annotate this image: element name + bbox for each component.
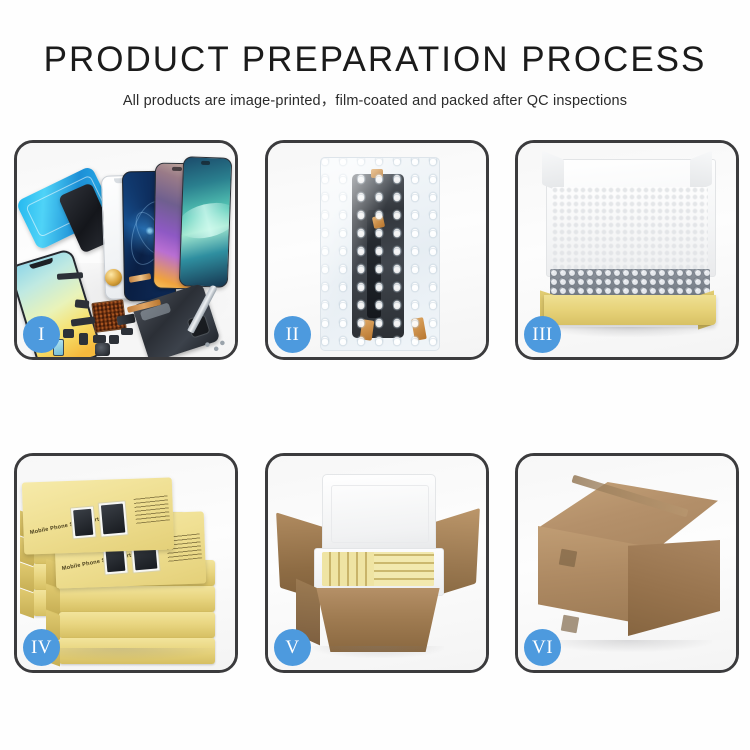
surface-shadow <box>544 640 712 652</box>
process-step-5: V <box>265 453 489 673</box>
foam-sheet <box>552 187 708 269</box>
process-step-2: II <box>265 140 489 360</box>
stacked-box <box>59 586 215 612</box>
step-badge-6: VI <box>524 629 561 666</box>
small-component <box>93 335 106 343</box>
small-component <box>79 333 88 345</box>
step-badge-4: IV <box>23 629 60 666</box>
step-badge-5: V <box>274 629 311 666</box>
box-front-yellow <box>544 295 716 325</box>
camera-module <box>95 343 110 356</box>
process-step-grid: I II <box>14 140 737 673</box>
process-step-1: I <box>14 140 238 360</box>
printed-box-top: Mobile Phone Spare Parts <box>22 477 174 554</box>
box-window <box>70 506 97 540</box>
box-side <box>46 584 60 614</box>
stacked-box <box>59 612 215 638</box>
surface-shadow <box>312 646 444 658</box>
product-image <box>101 504 125 535</box>
page-subtitle: All products are image-printed，film-coat… <box>0 89 750 110</box>
carton-side <box>628 540 720 636</box>
box-window <box>98 500 129 537</box>
process-step-4: Mobile Phone Spare Parts Mobile Phone Sp… <box>14 453 238 673</box>
phone-display-teal <box>179 156 233 288</box>
yellow-boxes-inside <box>322 552 434 586</box>
bubble-wrap-bag <box>320 157 440 351</box>
process-step-6: VI <box>515 453 739 673</box>
product-preparation-infographic: PRODUCT PREPARATION PROCESS All products… <box>0 0 750 750</box>
small-component <box>121 328 133 335</box>
product-image <box>73 509 93 536</box>
carton-tape-patch <box>559 549 578 568</box>
step-badge-2: II <box>274 316 311 353</box>
carton-front <box>308 588 448 652</box>
foam-cooler-lid <box>322 474 436 556</box>
box-side <box>20 562 34 592</box>
header: PRODUCT PREPARATION PROCESS All products… <box>0 0 750 110</box>
carton-tape-patch <box>561 615 580 634</box>
small-component <box>75 299 90 308</box>
step-badge-3: III <box>524 316 561 353</box>
small-component <box>109 335 119 344</box>
process-step-3: III <box>515 140 739 360</box>
surface-shadow <box>544 327 716 337</box>
step-badge-1: I <box>23 316 60 353</box>
screws-group <box>203 339 225 353</box>
small-component <box>63 329 74 338</box>
box-spec-lines <box>134 494 171 523</box>
box-stripes <box>374 552 434 586</box>
box-side <box>20 588 34 618</box>
page-title: PRODUCT PREPARATION PROCESS <box>0 42 750 79</box>
gold-component-icon <box>105 269 122 286</box>
plastic-gloss-highlight <box>321 158 439 350</box>
